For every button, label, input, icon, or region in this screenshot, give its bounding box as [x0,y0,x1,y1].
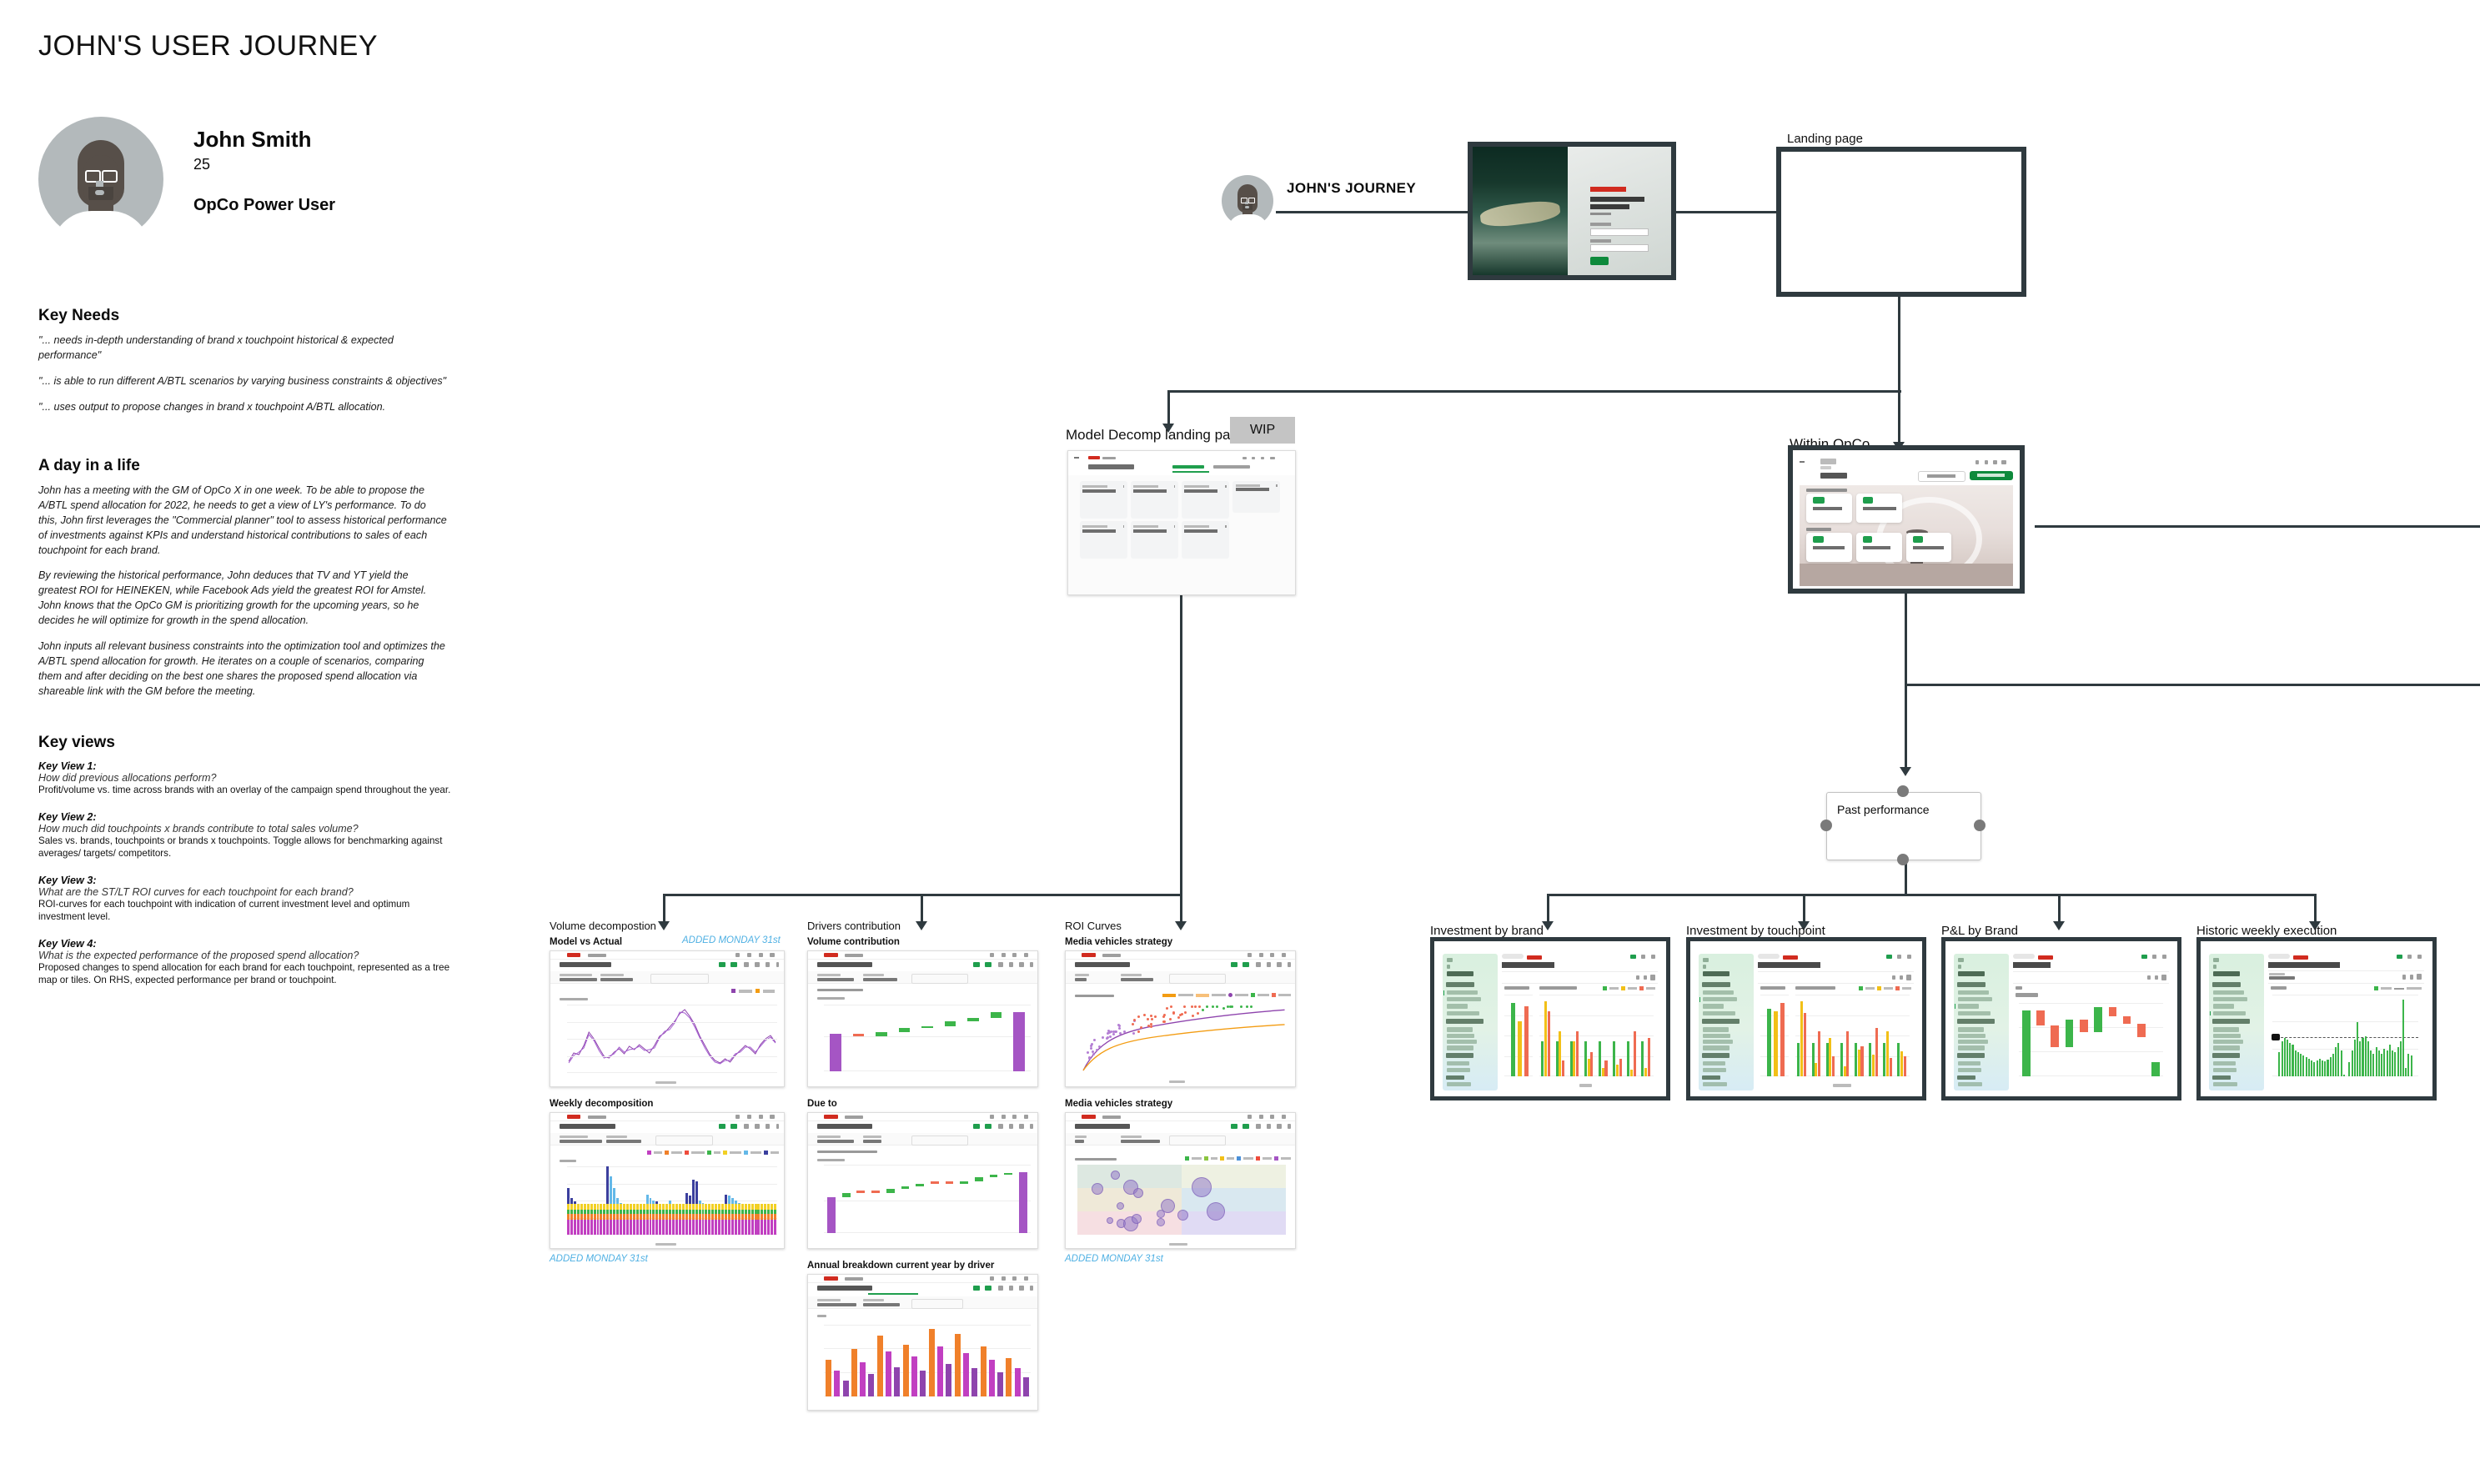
page-title: JOHN'S USER JOURNEY [38,30,378,63]
plot-total-investment [1504,995,1533,1076]
day-in-life-paragraph: By reviewing the historical performance,… [38,569,447,629]
tile-volume-contribution[interactable] [1182,481,1229,519]
dashboard-sidebar[interactable] [1954,954,2010,1090]
key-view-item: Key View 4: What is the expected perform… [38,938,455,987]
past-performance-label: Past performance [1837,803,1930,816]
connector-to-roi [1180,894,1182,924]
dashboard-label-pl-by-brand: P&L by Brand [1941,924,2018,938]
key-views-section: Key views Key View 1: How did previous a… [38,734,455,1001]
plot-weekly-decomposition [567,1166,777,1235]
card-subtitle-volume-contribution: Volume contribution [807,937,900,947]
card-set-portfolio-strategy[interactable] [1806,533,1851,562]
plot-investment-per-touchpoint [1795,995,1910,1076]
arrow-down-icon [1542,921,1554,930]
key-view-description: ROI-curves for each touchpoint with indi… [38,898,455,924]
dashboard-page-title [2013,962,2051,968]
chart-legend [2374,986,2422,990]
handle-bottom[interactable] [1897,854,1909,865]
plot-response-curves [1082,1003,1288,1072]
key-view-item: Key View 1: How did previous allocations… [38,760,455,797]
card-past-performance[interactable] [1806,494,1851,523]
password-label [1590,239,1611,243]
model-decomp-screenshot[interactable] [1067,450,1296,595]
dashboard-investment-by-touchpoint[interactable] [1686,937,1926,1100]
key-view-item: Key View 2: How much did touchpoints x b… [38,811,455,860]
tile-media-vehicles-strategy[interactable] [1182,521,1229,559]
day-in-life-section: A day in a life John has a meeting with … [38,457,447,709]
connector-to-volume [663,894,665,924]
key-view-question: How much did touchpoints x brands contri… [38,823,455,835]
group-title-roi-curves: ROI Curves [1065,920,1122,932]
arrow-down-icon [2053,921,2065,930]
handle-top[interactable] [1897,785,1909,797]
key-view-title: Key View 1: [38,760,455,772]
wip-badge: WIP [1230,417,1295,444]
connector-to-inv-brand [1547,894,1549,924]
dashboard-historic-weekly-execution[interactable] [2196,937,2437,1100]
connector-opco-right-upper [2035,525,2480,528]
dashboard-main-panel [1502,954,1659,1090]
day-in-life-paragraph: John has a meeting with the GM of OpCo X… [38,484,447,558]
search-input[interactable] [911,1136,968,1146]
plot-pl-waterfall [2019,1003,2163,1076]
plot-volume-contribution-waterfall [824,1005,1031,1071]
login-app-version [1590,213,1611,216]
selector-row[interactable] [2268,970,2425,985]
login-app-title-second-line [1590,204,1629,208]
login-screen-thumbnail[interactable] [1468,142,1676,280]
search-input[interactable] [1169,974,1226,984]
plot-investment-per-brand [1539,995,1654,1076]
connector-to-inv-touchpoint [1803,894,1805,924]
connector-login-to-landing [1676,211,1776,213]
key-view-question: How did previous allocations perform? [38,772,455,784]
connector-opco-right [1905,684,2480,686]
persona-name: John Smith [193,127,312,153]
chart-legend [1603,986,1655,990]
connector-to-drivers [921,894,923,924]
day-in-life-paragraph: John inputs all relevant business constr… [38,639,447,699]
search-input[interactable] [655,1136,713,1146]
card-subtitle-annual-breakdown: Annual breakdown current year by driver [807,1261,994,1271]
dashboard-main-panel [2013,954,2170,1090]
key-views-heading: Key views [38,734,455,752]
dashboard-sidebar[interactable] [1443,954,1499,1090]
key-need-item: "... uses output to propose changes in b… [38,400,455,415]
dashboard-investment-by-brand[interactable] [1430,937,1670,1100]
plot-model-vs-actual [567,1005,777,1073]
card-subtitle-response-curves: Media vehicles strategy [1065,937,1172,947]
persona-age: 25 [193,156,210,173]
tile-due-to[interactable] [1232,481,1280,513]
dashboard-pl-by-brand[interactable] [1941,937,2181,1100]
connector-journey-to-login [1276,211,1468,213]
persona-role: OpCo Power User [193,196,335,215]
model-decomp-label: Model Decomp landing page [1066,427,1246,444]
plot-historic-weekly [2272,995,2418,1076]
key-view-description: Profit/volume vs. time across brands wit… [38,784,455,797]
screenshot-annual-breakdown[interactable] [807,1274,1038,1411]
connector-model-decomp-down [1180,594,1182,894]
tile-response-curves[interactable] [1131,521,1178,559]
dashboard-page-title [1758,962,1820,968]
login-button[interactable] [1590,257,1608,264]
chart-legend [647,1151,779,1155]
dashboard-main-panel [1758,954,1915,1090]
plot-due-to-waterfall [824,1165,1031,1233]
handle-right[interactable] [1974,820,1986,831]
dashboard-sidebar[interactable] [2209,954,2265,1090]
within-opco-screenshot[interactable] [1788,445,2025,594]
dashboard-label-historic-weekly-execution: Historic weekly execution [2196,924,2337,938]
key-need-item: "... needs in-depth understanding of bra… [38,333,455,363]
chart-legend [1859,986,1911,990]
chart-legend [731,989,775,993]
arrow-down-icon [658,921,670,930]
password-field[interactable] [1590,244,1648,252]
key-view-question: What is the expected performance of the … [38,950,455,961]
added-note: ADDED MONDAY 31st [1065,1254,1163,1264]
tile-annual-breakdown[interactable] [1080,521,1127,559]
connector-to-model-decomp [1167,390,1170,425]
key-view-title: Key View 2: [38,811,455,823]
landing-page-label: Landing page [1787,132,1863,146]
connector-opco-to-past [1905,594,1907,770]
create-scenario-button[interactable] [1970,471,2013,480]
handle-left[interactable] [1820,820,1832,831]
login-app-title [1590,197,1644,202]
connector-to-pl-brand [2058,894,2061,924]
card-subtitle-weekly-decomposition: Weekly decomposition [550,1099,653,1109]
journey-label: JOHN'S JOURNEY [1287,180,1416,197]
connector-to-historic [2314,894,2317,924]
key-view-question: What are the ST/LT ROI curves for each t… [38,886,455,898]
landing-page-node[interactable] [1776,147,2026,297]
card-subtitle-media-vehicles-strategy: Media vehicles strategy [1065,1099,1172,1109]
key-view-description: Proposed changes to spend allocation for… [38,961,455,987]
group-title-drivers-contribution: Drivers contribution [807,920,901,932]
search-input[interactable] [650,974,708,984]
arrow-down-icon [1175,921,1187,930]
arrow-down-icon [916,921,927,930]
key-needs-section: Key Needs "... needs in-depth understand… [38,307,455,426]
login-form-panel [1568,147,1671,275]
screenshot-volume-contribution[interactable] [807,950,1038,1087]
screenshot-media-vehicles-strategy[interactable] [1065,1112,1296,1249]
key-view-item: Key View 3: What are the ST/LT ROI curve… [38,875,455,924]
screenshot-model-vs-actual[interactable] [550,950,785,1087]
connector-split-horizontal [1167,390,1901,393]
added-note: ADDED MONDAY 31st [682,935,781,945]
search-input[interactable] [911,974,968,984]
chart-legend [1185,1156,1291,1161]
dashboard-main-panel [2268,954,2425,1090]
journey-avatar-icon [1222,175,1273,227]
email-label [1590,223,1611,226]
tile-weekly-decomposition[interactable] [1131,481,1178,519]
key-view-title: Key View 3: [38,875,455,886]
card-subtitle-model-vs-actual: Model vs Actual [550,937,622,947]
manage-scenarios-button[interactable] [1918,471,1965,482]
connector-landing-down [1898,297,1900,392]
card-subtitle-due-to: Due to [807,1099,837,1109]
dashboard-page-title [2268,962,2340,968]
screenshot-response-curves[interactable] [1065,950,1296,1087]
group-title-volume-decompostion: Volume decompostion [550,920,656,932]
past-performance-node[interactable]: Past performance [1826,792,1981,860]
key-view-title: Key View 4: [38,938,455,950]
email-field[interactable] [1590,228,1648,236]
dashboard-page-title [1502,962,1555,968]
screenshot-weekly-decomposition[interactable] [550,1112,785,1249]
tile-weekly-model-vs-actual[interactable] [1080,481,1127,519]
plot-total-investment [1760,995,1789,1076]
plot-bubble-quadrant [1077,1165,1286,1235]
chart-legend [1162,993,1291,997]
user-avatar-icon [38,117,163,242]
connector-to-within-opco [1898,390,1900,444]
key-need-item: "... is able to run different A/BTL scen… [38,374,455,389]
key-view-description: Sales vs. brands, touchpoints or brands … [38,835,455,860]
arrow-down-icon [1900,767,1911,776]
heineken-logo-icon [1590,187,1625,192]
search-input[interactable] [1169,1136,1226,1146]
card-simulate-results[interactable] [1856,533,1901,562]
card-compare-scenarios[interactable] [1906,533,1951,562]
screenshot-due-to[interactable] [807,1112,1038,1249]
card-understand-drivers-for-roi[interactable] [1856,494,1901,523]
dashboard-label-investment-by-brand: Investment by brand [1430,924,1544,938]
day-in-life-heading: A day in a life [38,457,447,475]
dashboard-sidebar[interactable] [1699,954,1755,1090]
key-needs-heading: Key Needs [38,307,455,325]
connector-dashboards-spread [1547,894,2314,896]
added-note: ADDED MONDAY 31st [550,1254,648,1264]
plot-annual-breakdown [824,1325,1031,1396]
search-input[interactable] [911,1299,964,1309]
login-hero-image [1473,147,1568,275]
dashboard-label-investment-by-touchpoint: Investment by touchpoint [1686,924,1825,938]
